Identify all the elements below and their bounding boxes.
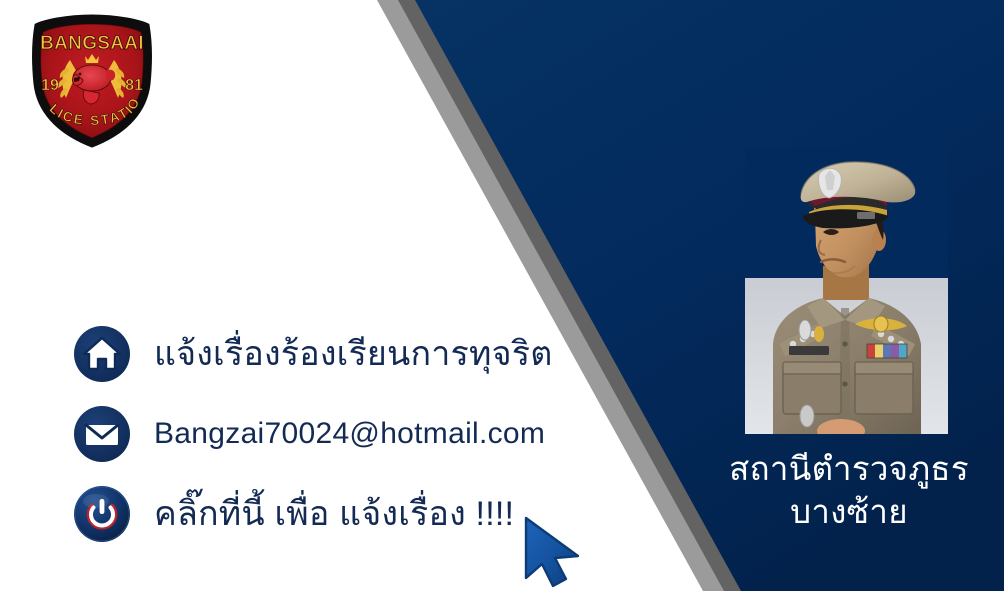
station-name-line1: สถานีตำรวจภูธร [700,448,998,491]
complaint-label: แจ้งเรื่องร้องเรียนการทุจริต [154,337,553,371]
home-icon [72,324,132,384]
station-name-caption: สถานีตำรวจภูธร บางซ้าย [700,448,998,534]
logo-name-text: BANGSAAI [40,33,144,54]
row-click-here[interactable]: คลิ๊กที่นี้ เพื่อ แจ้งเรื่อง !!!! [72,482,592,546]
police-officer-photo [745,148,948,434]
logo-year-left: 19 [41,77,59,94]
banner-canvas: BANGSAAI 19 81 [0,0,1004,591]
email-address: Bangzai70024@hotmail.com [154,419,545,449]
logo-year-right: 81 [125,77,143,94]
click-here-label: คลิ๊กที่นี้ เพื่อ แจ้งเรื่อง !!!! [154,497,514,531]
bangsaai-police-logo: BANGSAAI 19 81 [22,12,162,150]
envelope-icon [72,404,132,464]
row-email[interactable]: Bangzai70024@hotmail.com [72,402,592,466]
row-complaint[interactable]: แจ้งเรื่องร้องเรียนการทุจริต [72,322,592,386]
mouse-pointer-icon [516,514,608,590]
station-name-line2: บางซ้าย [700,491,998,534]
power-icon[interactable] [72,484,132,544]
contact-rows: แจ้งเรื่องร้องเรียนการทุจริต Bangza [72,322,592,546]
